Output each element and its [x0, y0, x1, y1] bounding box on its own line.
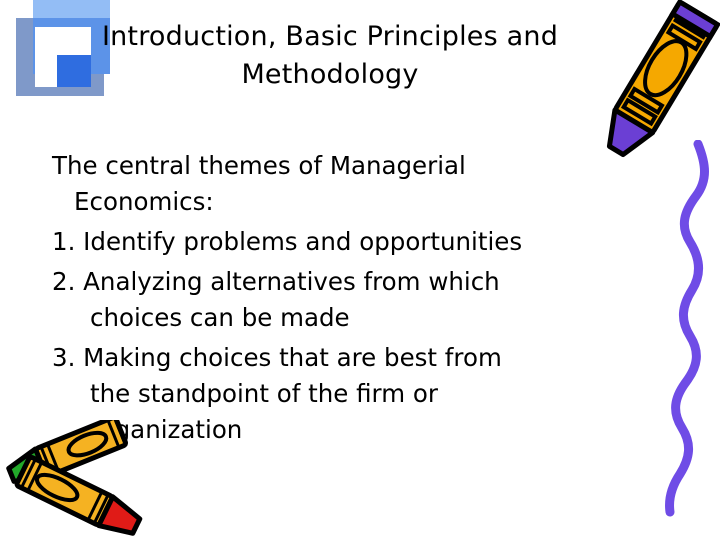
list-item: 3. Making choices that are best from	[52, 340, 664, 376]
body-line: The central themes of Managerial	[52, 148, 664, 184]
body-line: Economics:	[52, 184, 664, 220]
presentation-slide: Introduction, Basic Principles and Metho…	[0, 0, 720, 540]
list-item: 1. Identify problems and opportunities	[52, 224, 664, 260]
slide-body-list: The central themes of Managerial Economi…	[52, 148, 664, 448]
list-item: 2. Analyzing alternatives from which	[52, 264, 664, 300]
body-line: the standpoint of the firm or	[52, 376, 664, 412]
slide-title: Introduction, Basic Principles and Metho…	[60, 18, 600, 94]
body-line: choices can be made	[52, 300, 664, 336]
body-line: organization	[52, 412, 664, 448]
yellow-crayon-icon	[592, 0, 720, 166]
